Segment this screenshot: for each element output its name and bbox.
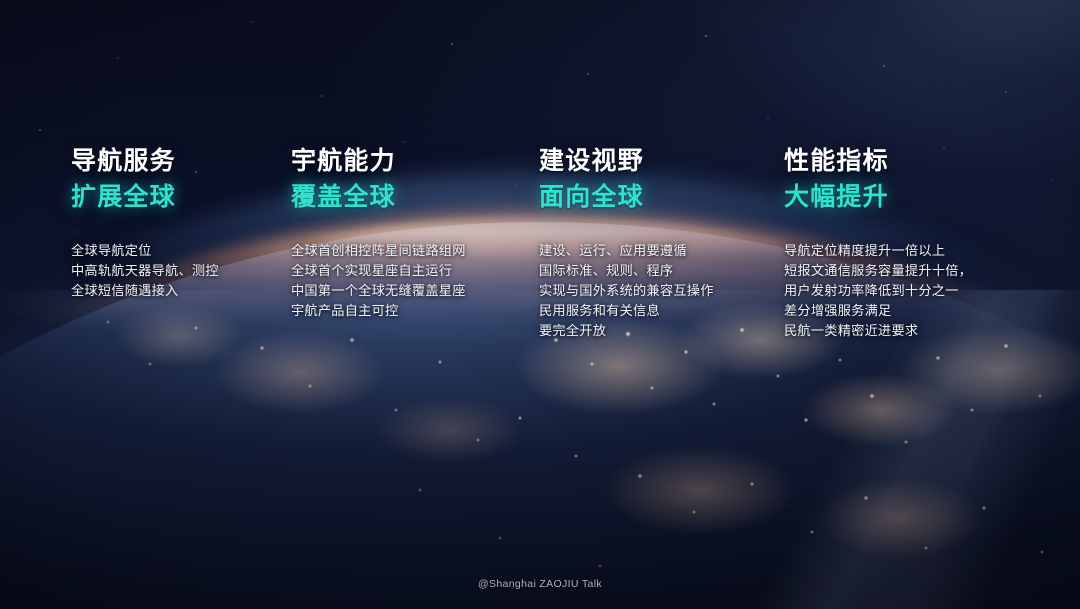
content-columns: 导航服务 扩展全球 全球导航定位 中高轨航天器导航、测控 全球短信随遇接入 宇航… bbox=[0, 0, 1080, 609]
column-aerospace-capability: 宇航能力 覆盖全球 全球首创相控阵星间链路组网 全球首个实现星座自主运行 中国第… bbox=[291, 146, 531, 321]
column-performance-metrics: 性能指标 大幅提升 导航定位精度提升一倍以上 短报文通信服务容量提升十倍， 用户… bbox=[784, 146, 1034, 341]
column-body: 全球导航定位 中高轨航天器导航、测控 全球短信随遇接入 bbox=[71, 241, 286, 301]
body-line: 民航一类精密近进要求 bbox=[784, 321, 1034, 341]
column-title: 宇航能力 bbox=[291, 146, 531, 177]
column-subtitle: 大幅提升 bbox=[784, 182, 1034, 213]
column-body: 全球首创相控阵星间链路组网 全球首个实现星座自主运行 中国第一个全球无缝覆盖星座… bbox=[291, 241, 531, 321]
body-line: 全球导航定位 bbox=[71, 241, 286, 261]
body-line: 民用服务和有关信息 bbox=[539, 301, 779, 321]
column-subtitle: 覆盖全球 bbox=[291, 182, 531, 213]
body-line: 宇航产品自主可控 bbox=[291, 301, 531, 321]
body-line: 中国第一个全球无缝覆盖星座 bbox=[291, 281, 531, 301]
body-line: 建设、运行、应用要遵循 bbox=[539, 241, 779, 261]
column-body: 导航定位精度提升一倍以上 短报文通信服务容量提升十倍， 用户发射功率降低到十分之… bbox=[784, 241, 1034, 341]
body-line: 短报文通信服务容量提升十倍， bbox=[784, 261, 1034, 281]
body-line: 实现与国外系统的兼容互操作 bbox=[539, 281, 779, 301]
column-title: 导航服务 bbox=[71, 146, 286, 177]
presentation-slide: 导航服务 扩展全球 全球导航定位 中高轨航天器导航、测控 全球短信随遇接入 宇航… bbox=[0, 0, 1080, 609]
column-title: 建设视野 bbox=[539, 146, 779, 177]
column-subtitle: 面向全球 bbox=[539, 182, 779, 213]
column-navigation-service: 导航服务 扩展全球 全球导航定位 中高轨航天器导航、测控 全球短信随遇接入 bbox=[71, 146, 286, 301]
body-line: 差分增强服务满足 bbox=[784, 301, 1034, 321]
column-construction-vision: 建设视野 面向全球 建设、运行、应用要遵循 国际标准、规则、程序 实现与国外系统… bbox=[539, 146, 779, 341]
body-line: 中高轨航天器导航、测控 bbox=[71, 261, 286, 281]
body-line: 全球首创相控阵星间链路组网 bbox=[291, 241, 531, 261]
body-line: 国际标准、规则、程序 bbox=[539, 261, 779, 281]
body-line: 全球首个实现星座自主运行 bbox=[291, 261, 531, 281]
watermark-credit: @Shanghai ZAOJIU Talk bbox=[0, 578, 1080, 590]
body-line: 导航定位精度提升一倍以上 bbox=[784, 241, 1034, 261]
body-line: 用户发射功率降低到十分之一 bbox=[784, 281, 1034, 301]
body-line: 全球短信随遇接入 bbox=[71, 281, 286, 301]
column-subtitle: 扩展全球 bbox=[71, 182, 286, 213]
column-title: 性能指标 bbox=[784, 146, 1034, 177]
body-line: 要完全开放 bbox=[539, 321, 779, 341]
column-body: 建设、运行、应用要遵循 国际标准、规则、程序 实现与国外系统的兼容互操作 民用服… bbox=[539, 241, 779, 341]
